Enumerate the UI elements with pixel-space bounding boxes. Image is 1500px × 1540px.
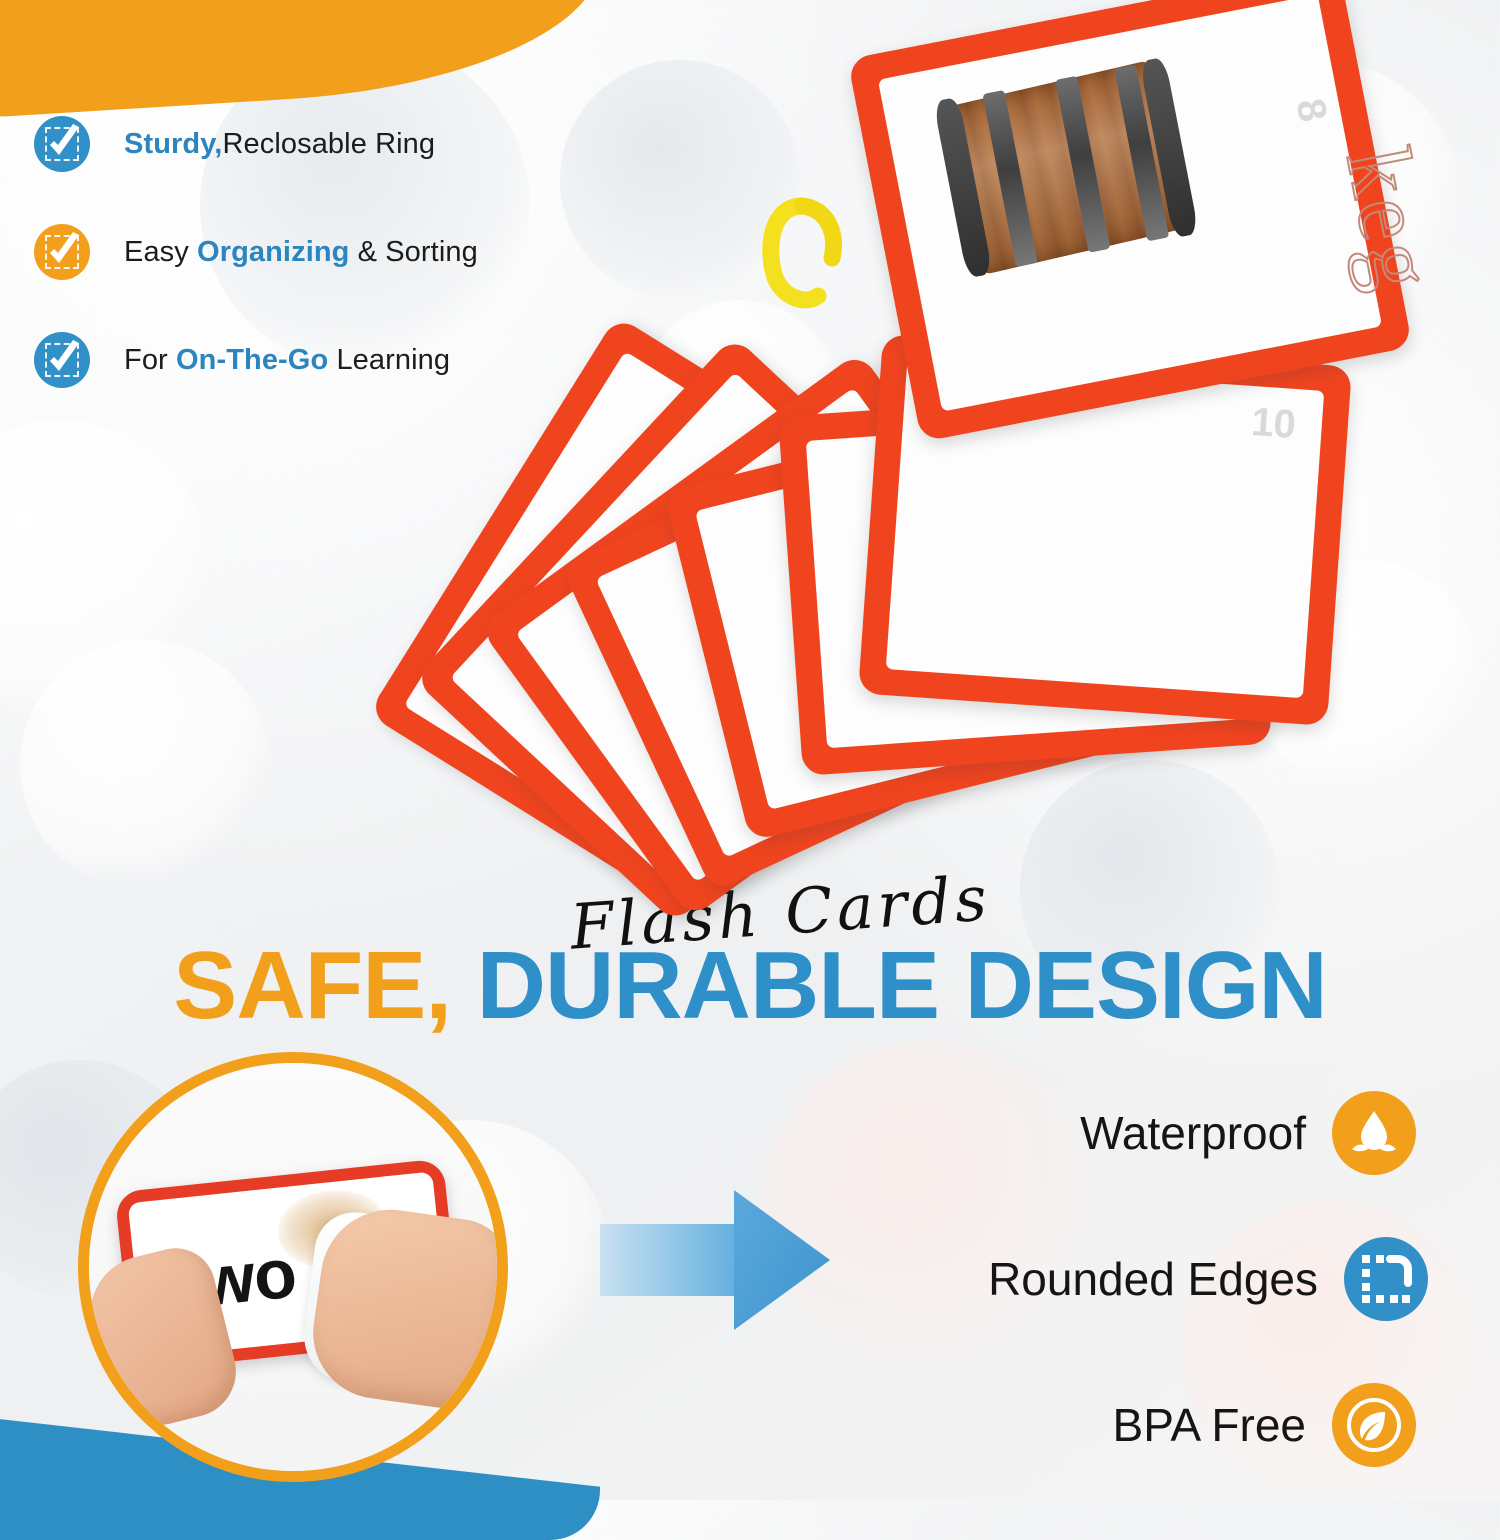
- feature-list: Waterproof Rounded Edges: [896, 1060, 1416, 1498]
- feature-label: Waterproof: [1080, 1106, 1306, 1160]
- headline-word-durable-design: DURABLE DESIGN: [477, 932, 1327, 1039]
- bullet-label: Sturdy,Reclosable Ring: [124, 128, 435, 161]
- check-icon: [34, 224, 90, 280]
- feature-label: Rounded Edges: [988, 1252, 1318, 1306]
- reclosable-ring-icon: [756, 192, 848, 312]
- card-number: 10: [1250, 400, 1298, 448]
- feature-item-rounded-edges: Rounded Edges: [896, 1206, 1428, 1352]
- bokeh-circle: [20, 640, 270, 890]
- trace-word-keg: keg: [1325, 139, 1457, 301]
- water-drop-icon: [1332, 1091, 1416, 1175]
- flashcard-fan: 3 4 s 5 i 6 o 7 9 10: [400, 0, 1460, 900]
- headline-word-safe: SAFE,: [173, 932, 451, 1039]
- check-icon: [34, 116, 90, 172]
- wipe-clean-photo: two: [78, 1052, 508, 1482]
- check-icon: [34, 332, 90, 388]
- card-number: 8: [1286, 95, 1334, 125]
- leaf-icon: [1332, 1383, 1416, 1467]
- page-title: SAFE, DURABLE DESIGN: [0, 938, 1500, 1034]
- rounded-corner-icon: [1344, 1237, 1428, 1321]
- feature-label: BPA Free: [1113, 1398, 1306, 1452]
- right-arrow-icon: [600, 1190, 830, 1330]
- wooden-barrel-image: [940, 62, 1193, 274]
- feature-item-waterproof: Waterproof: [896, 1060, 1416, 1206]
- feature-item-bpa-free: BPA Free: [896, 1352, 1416, 1498]
- bokeh-circle: [0, 420, 210, 720]
